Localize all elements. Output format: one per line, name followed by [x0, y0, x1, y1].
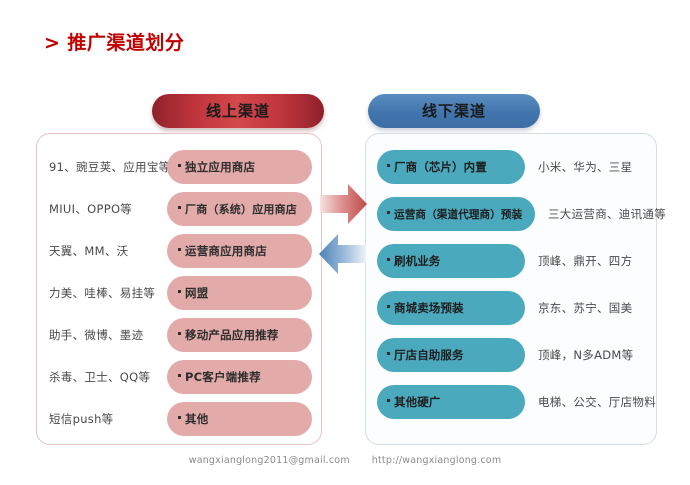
footer-site: http://wangxianglong.com — [372, 455, 502, 466]
bullet-icon — [178, 374, 181, 377]
arrow-left-icon — [318, 232, 366, 276]
offline-channel-label: 其他硬广 — [394, 394, 440, 410]
offline-channel-row: 厅店自助服务顶峰，N多ADM等 — [366, 334, 656, 376]
online-channel-label: 其他 — [185, 411, 208, 427]
offline-channel-pill[interactable]: 刷机业务 — [377, 244, 525, 278]
bullet-icon — [387, 211, 390, 214]
footer-email: wangxianglong2011@gmail.com — [189, 455, 350, 466]
online-channel-panel: 91、豌豆荚、应用宝等独立应用商店MIUI、OPPO等厂商（系统）应用商店天翼、… — [36, 133, 322, 445]
online-channel-label: 厂商（系统）应用商店 — [185, 201, 297, 217]
offline-channel-pill[interactable]: 运营商（渠道代理商）预装 — [377, 197, 535, 231]
bullet-icon — [178, 206, 181, 209]
offline-channel-label: 刷机业务 — [394, 253, 440, 269]
online-channel-row: 力美、哇棒、易挂等网盟 — [37, 272, 321, 314]
online-source-label: 91、豌豆荚、应用宝等 — [49, 159, 167, 175]
offline-channel-label: 厅店自助服务 — [394, 347, 464, 363]
bullet-icon — [387, 305, 390, 308]
online-source-label: 助手、微博、墨迹 — [49, 327, 167, 343]
online-channel-label: 独立应用商店 — [185, 159, 255, 175]
offline-channel-row: 商城卖场预装京东、苏宁、国美 — [366, 287, 656, 329]
online-source-label: MIUI、OPPO等 — [49, 201, 167, 217]
offline-channel-label: 商城卖场预装 — [394, 300, 464, 316]
offline-channel-row: 运营商（渠道代理商）预装三大运营商、迪讯通等 — [366, 193, 656, 235]
online-channel-row: 短信push等其他 — [37, 398, 321, 440]
title-text: 推广渠道划分 — [67, 32, 184, 54]
bullet-icon — [178, 290, 181, 293]
offline-channel-pill[interactable]: 商城卖场预装 — [377, 291, 525, 325]
online-channel-row: 助手、微博、墨迹移动产品应用推荐 — [37, 314, 321, 356]
bullet-icon — [387, 399, 390, 402]
online-channel-label: PC客户端推荐 — [185, 369, 261, 385]
offline-channel-pill[interactable]: 厅店自助服务 — [377, 338, 525, 372]
offline-channel-pill[interactable]: 厂商（芯片）内置 — [377, 150, 525, 184]
bullet-icon — [178, 332, 181, 335]
online-channel-row: 天翼、MM、沃运营商应用商店 — [37, 230, 321, 272]
online-channel-row: 杀毒、卫士、QQ等PC客户端推荐 — [37, 356, 321, 398]
arrow-right-icon — [320, 182, 368, 226]
title-chevron: > — [44, 32, 60, 54]
offline-channel-panel: 厂商（芯片）内置小米、华为、三星运营商（渠道代理商）预装三大运营商、迪讯通等刷机… — [365, 133, 657, 445]
offline-vendor-label: 小米、华为、三星 — [525, 159, 648, 175]
page-title: >推广渠道划分 — [44, 28, 184, 55]
online-source-label: 力美、哇棒、易挂等 — [49, 285, 167, 301]
offline-vendor-label: 顶峰、鼎开、四方 — [525, 253, 648, 269]
online-channel-label: 网盟 — [185, 285, 208, 301]
offline-vendor-label: 三大运营商、迪讯通等 — [535, 206, 666, 222]
online-channel-pill[interactable]: 网盟 — [167, 276, 312, 310]
online-channel-pill[interactable]: 独立应用商店 — [167, 150, 312, 184]
online-channel-label: 运营商应用商店 — [185, 243, 267, 259]
online-channel-row: MIUI、OPPO等厂商（系统）应用商店 — [37, 188, 321, 230]
offline-vendor-label: 京东、苏宁、国美 — [525, 300, 648, 316]
offline-vendor-label: 顶峰，N多ADM等 — [525, 347, 648, 363]
offline-vendor-label: 电梯、公交、厅店物料 — [525, 394, 656, 410]
online-source-label: 杀毒、卫士、QQ等 — [49, 369, 167, 385]
online-channel-pill[interactable]: 其他 — [167, 402, 312, 436]
offline-channel-row: 其他硬广电梯、公交、厅店物料 — [366, 381, 656, 423]
online-channel-label: 移动产品应用推荐 — [185, 327, 279, 343]
online-channel-pill[interactable]: PC客户端推荐 — [167, 360, 312, 394]
offline-channel-label: 厂商（芯片）内置 — [394, 159, 487, 175]
bullet-icon — [387, 352, 390, 355]
offline-channel-row: 刷机业务顶峰、鼎开、四方 — [366, 240, 656, 282]
online-channel-pill[interactable]: 移动产品应用推荐 — [167, 318, 312, 352]
bullet-icon — [387, 164, 390, 167]
bullet-icon — [178, 164, 181, 167]
online-source-label: 天翼、MM、沃 — [49, 243, 167, 259]
online-channel-row: 91、豌豆荚、应用宝等独立应用商店 — [37, 146, 321, 188]
offline-channel-header: 线下渠道 — [368, 94, 540, 128]
bullet-icon — [178, 416, 181, 419]
bullet-icon — [178, 248, 181, 251]
online-source-label: 短信push等 — [49, 411, 167, 427]
bullet-icon — [387, 258, 390, 261]
offline-channel-label: 运营商（渠道代理商）预装 — [394, 207, 522, 222]
offline-channel-pill[interactable]: 其他硬广 — [377, 385, 525, 419]
footer: wangxianglong2011@gmail.comhttp://wangxi… — [0, 455, 690, 466]
offline-channel-row: 厂商（芯片）内置小米、华为、三星 — [366, 146, 656, 188]
online-channel-pill[interactable]: 运营商应用商店 — [167, 234, 312, 268]
online-channel-pill[interactable]: 厂商（系统）应用商店 — [167, 192, 312, 226]
online-channel-header: 线上渠道 — [152, 94, 324, 128]
